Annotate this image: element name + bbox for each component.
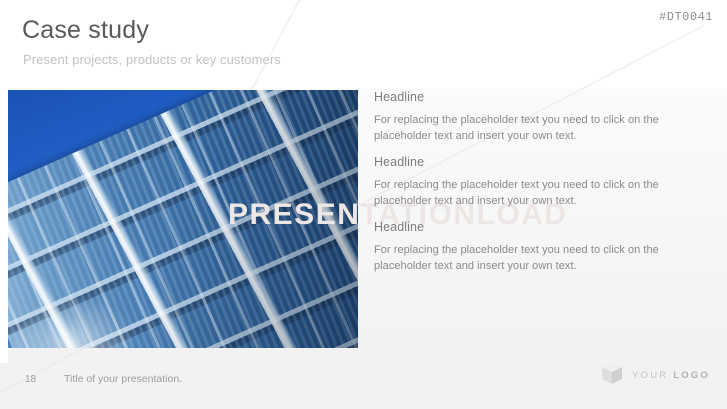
cube-icon (601, 361, 623, 390)
footer-presentation-title[interactable]: Title of your presentation. (64, 373, 182, 385)
page-title: Case study (22, 16, 149, 45)
photo-vignette (8, 90, 358, 348)
page-number: 18 (25, 374, 36, 385)
content-body-text[interactable]: For replacing the placeholder text you n… (374, 178, 674, 209)
content-headline[interactable]: Headline (374, 220, 674, 234)
logo-placeholder[interactable]: YOUR LOGO (601, 361, 710, 390)
photo-inner (8, 90, 358, 348)
logo-word-your: YOUR (632, 370, 668, 381)
content-block: Headline For replacing the placeholder t… (374, 220, 674, 274)
template-id-label: #DT0041 (659, 10, 713, 24)
content-headline[interactable]: Headline (374, 90, 674, 104)
content-body-text[interactable]: For replacing the placeholder text you n… (374, 113, 674, 144)
page-subtitle: Present projects, products or key custom… (23, 52, 281, 67)
content-column: Headline For replacing the placeholder t… (374, 90, 674, 274)
logo-text: YOUR LOGO (632, 370, 710, 381)
content-headline[interactable]: Headline (374, 155, 674, 169)
slide-canvas: Case study Present projects, products or… (0, 0, 727, 409)
content-block: Headline For replacing the placeholder t… (374, 155, 674, 209)
content-block: Headline For replacing the placeholder t… (374, 90, 674, 144)
slide-background-left-margin (0, 0, 8, 409)
content-body-text[interactable]: For replacing the placeholder text you n… (374, 243, 674, 274)
logo-word-logo: LOGO (673, 370, 710, 381)
building-photo (8, 90, 358, 348)
